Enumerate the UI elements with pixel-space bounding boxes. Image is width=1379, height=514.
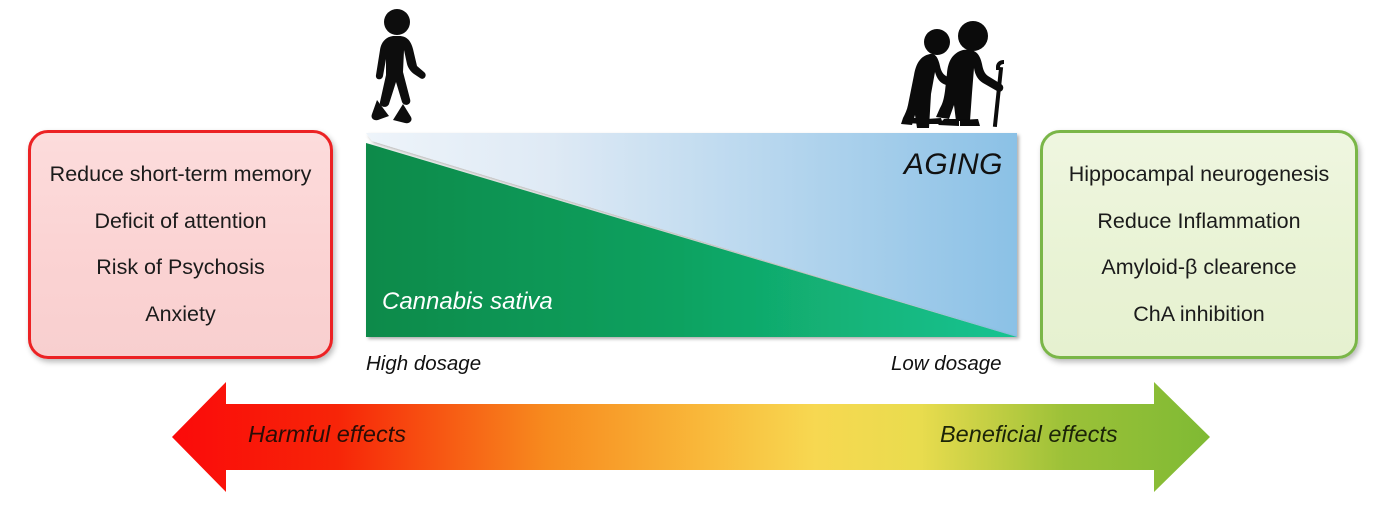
beneficial-effect-item: ChA inhibition — [1133, 304, 1264, 326]
beneficial-effect-item: Amyloid-β clearence — [1101, 257, 1296, 279]
harmful-effect-item: Anxiety — [145, 304, 216, 326]
figure-canvas: Reduce short-term memory Deficit of atte… — [0, 0, 1379, 514]
harmful-effects-panel: Reduce short-term memory Deficit of atte… — [28, 130, 333, 359]
low-dosage-label: Low dosage — [891, 352, 1002, 376]
high-dosage-label: High dosage — [366, 352, 481, 376]
beneficial-effects-panel: Hippocampal neurogenesis Reduce Inflamma… — [1040, 130, 1358, 359]
dosage-aging-diagram: AGING Cannabis sativa — [366, 132, 1017, 339]
harmful-effect-item: Risk of Psychosis — [96, 257, 264, 279]
elderly-couple-with-cane-icon — [900, 18, 1018, 130]
beneficial-effect-item: Reduce Inflammation — [1097, 211, 1300, 233]
harmful-effect-item: Reduce short-term memory — [50, 164, 312, 186]
walking-young-person-icon — [363, 8, 429, 128]
harmful-effects-arrow-label: Harmful effects — [248, 421, 406, 448]
beneficial-effects-arrow-label: Beneficial effects — [940, 421, 1118, 448]
harmful-effect-item: Deficit of attention — [94, 211, 266, 233]
beneficial-effect-item: Hippocampal neurogenesis — [1069, 164, 1330, 186]
